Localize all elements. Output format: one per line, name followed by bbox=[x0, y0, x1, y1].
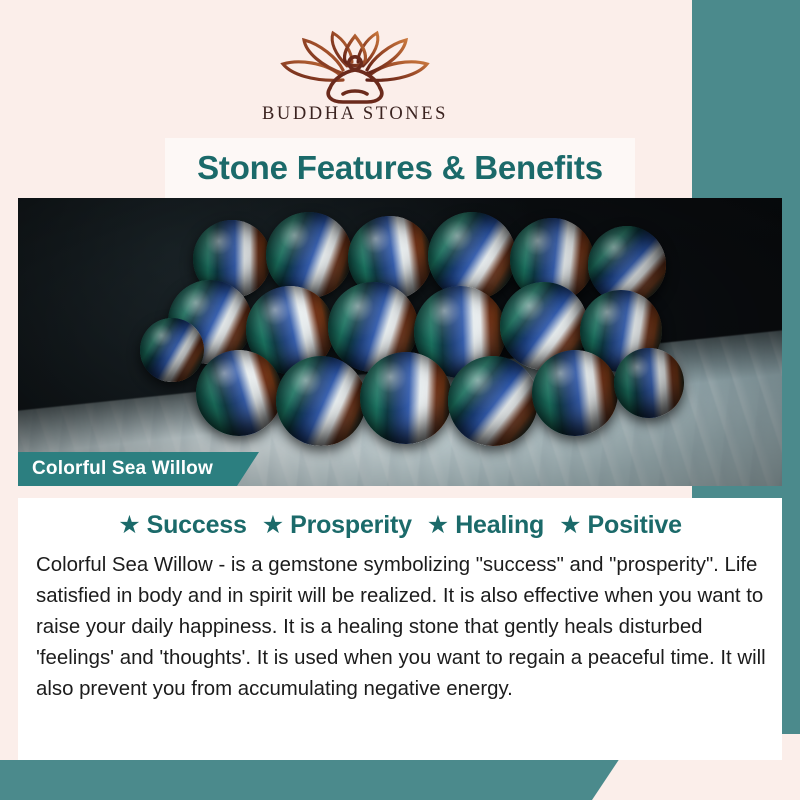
bead bbox=[196, 350, 282, 436]
brand-logo: BUDDHA STONES bbox=[262, 30, 448, 125]
star-icon: ★ bbox=[427, 513, 449, 538]
benefit-item-prosperity: ★ Prosperity bbox=[262, 511, 412, 540]
benefit-label: Success bbox=[147, 511, 247, 540]
page-title-band: Stone Features & Benefits bbox=[165, 138, 635, 198]
bead bbox=[532, 350, 618, 436]
brand-name: BUDDHA STONES bbox=[262, 104, 448, 125]
star-icon: ★ bbox=[262, 513, 284, 538]
page-background-top bbox=[0, 0, 692, 28]
bead bbox=[614, 348, 684, 418]
benefit-label: Prosperity bbox=[290, 511, 412, 540]
star-icon: ★ bbox=[118, 513, 140, 538]
benefit-item-success: ★ Success bbox=[118, 511, 247, 540]
star-icon: ★ bbox=[559, 513, 581, 538]
product-name-label: Colorful Sea Willow bbox=[32, 458, 213, 480]
benefits-row: ★ Success ★ Prosperity ★ Healing ★ Posit… bbox=[18, 498, 782, 540]
brand-header: BUDDHA STONES bbox=[18, 28, 692, 138]
bead bbox=[276, 356, 366, 446]
benefit-label: Healing bbox=[455, 511, 544, 540]
description-card: ★ Success ★ Prosperity ★ Healing ★ Posit… bbox=[18, 498, 782, 760]
bead bbox=[448, 356, 538, 446]
infographic-page: BUDDHA STONES Stone Features & Benefits bbox=[0, 0, 800, 800]
benefit-label: Positive bbox=[588, 511, 682, 540]
lotus-meditation-icon bbox=[273, 30, 437, 106]
product-name-chip: Colorful Sea Willow bbox=[18, 452, 259, 486]
description-text: Colorful Sea Willow - is a gemstone symb… bbox=[18, 540, 782, 705]
page-background-left bbox=[0, 0, 18, 760]
bead bbox=[140, 318, 204, 382]
benefit-item-positive: ★ Positive bbox=[559, 511, 682, 540]
product-photo bbox=[18, 198, 782, 486]
page-title: Stone Features & Benefits bbox=[197, 149, 603, 187]
bead bbox=[360, 352, 452, 444]
benefit-item-healing: ★ Healing bbox=[427, 511, 544, 540]
